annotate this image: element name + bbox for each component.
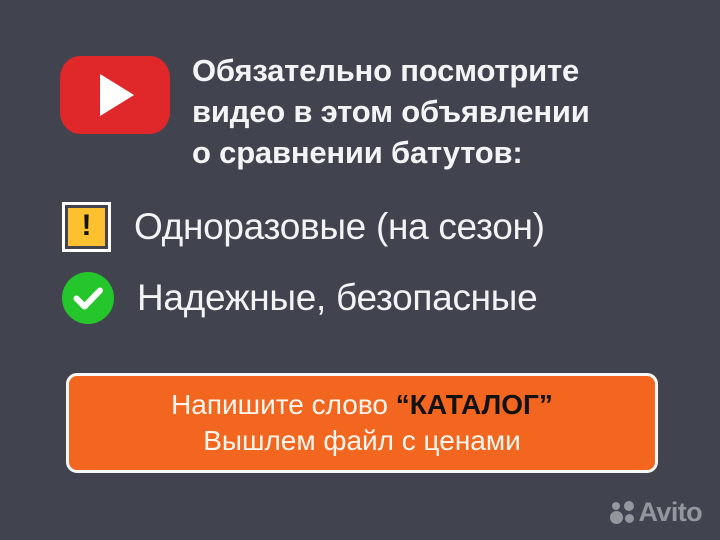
cta-line-1: Напишите слово “КАТАЛОГ” [171, 388, 553, 422]
cta-keyword-text: “КАТАЛОГ” [396, 389, 553, 420]
headline-block: Обязательно посмотрите видео в этом объя… [60, 50, 680, 173]
cta-button[interactable]: Напишите слово “КАТАЛОГ” Вышлем файл с ц… [66, 373, 658, 473]
avito-logo-icon [610, 501, 636, 525]
exclamation-glyph: ! [82, 211, 92, 241]
youtube-play-icon [60, 56, 170, 134]
avito-dot-medium-top [624, 501, 634, 511]
play-triangle-icon [100, 74, 134, 116]
avito-watermark: Avito [610, 499, 703, 526]
ad-creative-canvas: Обязательно посмотрите видео в этом объя… [0, 0, 720, 540]
headline-line-3: о сравнении батутов: [192, 132, 590, 173]
avito-dot-large [610, 511, 623, 524]
avito-wordmark: Avito [639, 499, 703, 526]
warning-exclamation-icon: ! [62, 202, 111, 252]
bullet-label-disposable: Одноразовые (на сезон) [134, 208, 545, 247]
avito-dot-medium-bottom [625, 514, 634, 523]
warning-icon-inner: ! [68, 208, 105, 246]
headline-text: Обязательно посмотрите видео в этом объя… [192, 50, 590, 173]
headline-line-1: Обязательно посмотрите [192, 50, 590, 91]
headline-line-2: видео в этом объявлении [192, 91, 590, 132]
bullet-row-disposable: ! Одноразовые (на сезон) [62, 202, 702, 252]
bullet-row-reliable: Надежные, безопасные [62, 272, 702, 324]
bullet-label-reliable: Надежные, безопасные [137, 279, 537, 318]
cta-prefix-text: Напишите слово [171, 389, 396, 420]
avito-dot-small-top [612, 502, 620, 510]
check-circle-icon [62, 272, 114, 324]
cta-line-2: Вышлем файл с ценами [203, 424, 521, 458]
